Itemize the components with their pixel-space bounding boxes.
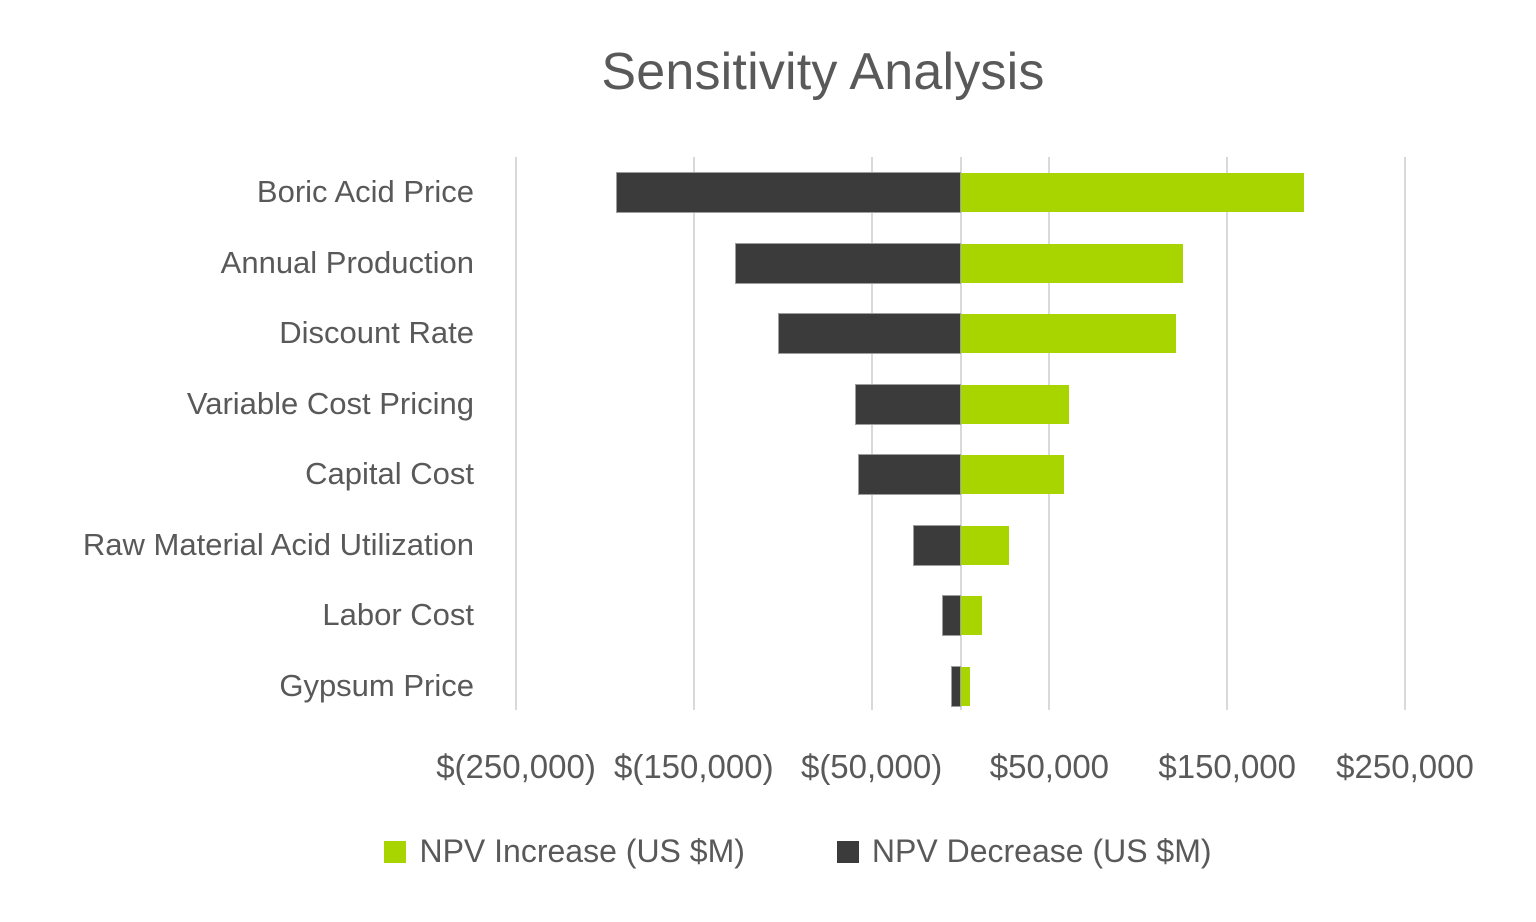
category-label: Gypsum Price: [279, 651, 474, 722]
bar-npv-decrease[interactable]: [617, 173, 960, 212]
chart-legend: NPV Increase (US $M)NPV Decrease (US $M): [0, 833, 1536, 870]
legend-label: NPV Decrease (US $M): [872, 833, 1212, 870]
category-label: Boric Acid Price: [257, 157, 474, 228]
bar-npv-increase[interactable]: [961, 173, 1304, 212]
bar-row: [516, 580, 1405, 651]
bar-npv-decrease[interactable]: [856, 385, 961, 424]
category-label: Raw Material Acid Utilization: [83, 510, 474, 581]
bar-npv-decrease[interactable]: [952, 667, 960, 706]
axis-tick-label: $(50,000): [801, 748, 942, 786]
bar-npv-decrease[interactable]: [943, 596, 961, 635]
axis-tick-label: $150,000: [1158, 748, 1296, 786]
legend-label: NPV Increase (US $M): [419, 833, 744, 870]
bar-row: [516, 510, 1405, 581]
bar-npv-increase[interactable]: [961, 314, 1176, 353]
bar-npv-increase[interactable]: [961, 526, 1010, 565]
sensitivity-analysis-chart: Sensitivity Analysis Boric Acid PriceAnn…: [0, 0, 1536, 922]
bar-npv-increase[interactable]: [961, 667, 971, 706]
value-axis-tick-labels: $(250,000)$(150,000)$(50,000)$50,000$150…: [0, 748, 1536, 798]
bar-row: [516, 157, 1405, 228]
category-label: Variable Cost Pricing: [187, 369, 474, 440]
bar-npv-increase[interactable]: [961, 455, 1064, 494]
category-label: Annual Production: [221, 228, 474, 299]
axis-tick-label: $250,000: [1336, 748, 1474, 786]
legend-item[interactable]: NPV Increase (US $M): [384, 833, 744, 870]
axis-tick-label: $50,000: [990, 748, 1109, 786]
bar-row: [516, 651, 1405, 722]
category-label: Labor Cost: [322, 580, 474, 651]
bar-npv-increase[interactable]: [961, 385, 1069, 424]
chart-title: Sensitivity Analysis: [0, 42, 1536, 102]
plot-area: [516, 157, 1405, 710]
bar-npv-decrease[interactable]: [779, 314, 960, 353]
bar-npv-increase[interactable]: [961, 244, 1183, 283]
legend-item[interactable]: NPV Decrease (US $M): [837, 833, 1212, 870]
bar-npv-increase[interactable]: [961, 596, 982, 635]
legend-swatch-green: [384, 841, 406, 863]
axis-tick-label: $(250,000): [436, 748, 596, 786]
bar-npv-decrease[interactable]: [914, 526, 960, 565]
bar-npv-decrease[interactable]: [859, 455, 960, 494]
category-axis-labels: Boric Acid PriceAnnual ProductionDiscoun…: [0, 157, 500, 710]
bar-row: [516, 228, 1405, 299]
bar-series-container: [516, 157, 1405, 710]
bar-npv-decrease[interactable]: [736, 244, 960, 283]
axis-tick-label: $(150,000): [614, 748, 774, 786]
category-label: Discount Rate: [279, 298, 474, 369]
legend-swatch-dark: [837, 841, 859, 863]
category-label: Capital Cost: [305, 439, 474, 510]
bar-row: [516, 298, 1405, 369]
bar-row: [516, 369, 1405, 440]
bar-row: [516, 439, 1405, 510]
